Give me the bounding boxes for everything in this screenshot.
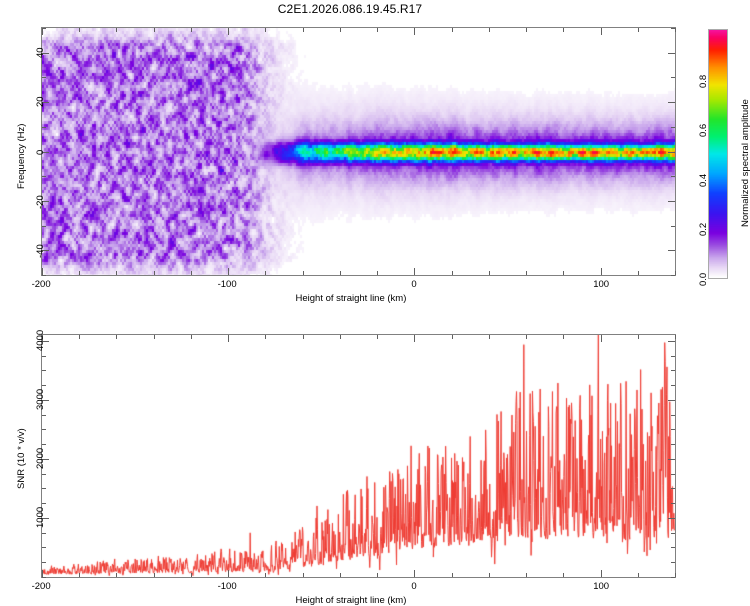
axis-tick [414,268,415,275]
axis-tick-label: 3000 [35,389,46,410]
axis-tick [601,570,602,577]
axis-tick [42,488,46,489]
axis-tick [489,28,490,32]
axis-tick [563,573,564,577]
axis-tick-label: 100 [593,581,609,592]
axis-tick [452,28,453,32]
axis-tick [228,268,229,275]
axis-tick [671,488,675,489]
axis-tick [668,518,675,519]
axis-tick [377,335,378,339]
axis-tick [675,573,676,577]
axis-tick [671,415,675,416]
axis-tick [671,385,675,386]
axis-tick-label: 100 [593,279,609,290]
axis-tick-label: 0 [35,149,46,154]
axis-tick [303,28,304,32]
colorbar-tick-label: 0.2 [698,223,709,236]
axis-tick [340,335,341,339]
axis-tick [116,271,117,275]
axis-tick-label: -200 [32,279,51,290]
axis-tick [42,226,46,227]
axis-tick [526,28,527,32]
axis-tick [526,335,527,339]
axis-tick [79,271,80,275]
axis-tick [671,77,675,78]
axis-tick [42,28,46,29]
axis-tick [414,28,415,35]
spectrogram-plot-area [41,27,676,276]
axis-tick [303,573,304,577]
axis-tick [452,271,453,275]
axis-tick [42,503,46,504]
axis-tick [452,573,453,577]
axis-tick [671,503,675,504]
axis-tick [668,102,675,103]
axis-tick [42,28,43,35]
axis-tick [671,176,675,177]
axis-tick [42,444,46,445]
axis-tick [79,335,80,339]
axis-tick [42,275,46,276]
axis-tick [563,28,564,32]
axis-tick [191,271,192,275]
axis-tick [675,335,676,339]
axis-tick [668,341,675,342]
axis-tick-label: -40 [35,244,46,258]
axis-tick-label: 2000 [35,448,46,469]
axis-tick [340,573,341,577]
axis-tick [668,459,675,460]
axis-tick [42,547,46,548]
axis-tick [526,573,527,577]
figure-title: C2E1.2026.086.19.45.R17 [0,2,700,16]
axis-tick [42,176,46,177]
axis-tick-label: 40 [35,48,46,59]
axis-tick [228,335,229,342]
axis-tick [191,573,192,577]
axis-tick-label: 0 [411,581,416,592]
axis-tick-label: -100 [218,581,237,592]
axis-tick [668,201,675,202]
axis-tick [42,370,46,371]
axis-tick [671,370,675,371]
axis-tick [638,335,639,339]
axis-tick [526,271,527,275]
axis-tick [638,28,639,32]
axis-tick [79,28,80,32]
axis-tick-label: -20 [35,195,46,209]
axis-tick [671,577,675,578]
axis-tick [671,547,675,548]
axis-tick [42,533,46,534]
axis-tick-label: 4000 [35,330,46,351]
axis-tick [265,271,266,275]
axis-tick [601,28,602,35]
axis-tick [340,271,341,275]
axis-tick [116,335,117,339]
axis-tick [42,474,46,475]
axis-tick [42,562,46,563]
axis-tick [303,335,304,339]
axis-tick [265,335,266,339]
axis-tick [116,28,117,32]
axis-tick [671,226,675,227]
axis-tick [303,271,304,275]
axis-tick [377,573,378,577]
axis-tick [265,573,266,577]
axis-tick [42,356,46,357]
figure-root: C2E1.2026.086.19.45.R17 -200-1000100-40-… [0,0,750,600]
spectrogram-image [42,28,675,275]
axis-tick [154,335,155,339]
axis-tick [668,250,675,251]
axis-tick [601,335,602,342]
axis-tick-label: -100 [218,279,237,290]
axis-tick [228,28,229,35]
axis-tick [675,271,676,275]
axis-tick [42,570,43,577]
snr-trace-line [42,335,675,577]
spectrogram-y-axis-label: Frequency (Hz) [16,123,27,188]
colorbar-title: Normalized spectral amplitude [740,99,750,227]
axis-tick [671,444,675,445]
axis-tick [668,152,675,153]
axis-tick [42,415,46,416]
colorbar-gradient [708,29,728,279]
colorbar-image [709,30,727,278]
axis-tick [42,77,46,78]
axis-tick [668,400,675,401]
axis-tick [191,28,192,32]
axis-tick [671,356,675,357]
axis-tick [42,268,43,275]
axis-tick [671,429,675,430]
axis-tick [377,271,378,275]
axis-tick [42,127,46,128]
axis-tick [671,562,675,563]
colorbar-tick-label: 0.0 [698,273,709,286]
snr-x-axis-label: Height of straight line (km) [296,595,407,606]
axis-tick [489,335,490,339]
axis-tick [154,271,155,275]
axis-tick [154,28,155,32]
axis-tick [265,28,266,32]
axis-tick [671,533,675,534]
axis-tick [414,335,415,342]
axis-tick-label: 1000 [35,507,46,528]
axis-tick-label: 20 [35,97,46,108]
axis-tick [116,573,117,577]
axis-tick [671,127,675,128]
colorbar-tick-label: 0.4 [698,174,709,187]
axis-tick [563,271,564,275]
axis-tick [228,570,229,577]
axis-tick [668,53,675,54]
axis-tick [340,28,341,32]
axis-tick [489,573,490,577]
axis-tick [154,573,155,577]
axis-tick [414,570,415,577]
axis-tick [601,268,602,275]
axis-tick [638,271,639,275]
axis-tick [191,335,192,339]
snr-y-axis-label: SNR (10 * v/v) [16,428,27,489]
axis-tick [42,577,46,578]
axis-tick [671,474,675,475]
colorbar-tick-label: 0.6 [698,124,709,137]
snr-plot-area [41,334,676,578]
spectrogram-x-axis-label: Height of straight line (km) [296,293,407,304]
axis-tick [377,28,378,32]
axis-tick [489,271,490,275]
axis-tick [452,335,453,339]
axis-tick [563,335,564,339]
axis-tick [638,573,639,577]
axis-tick-label: -200 [32,581,51,592]
colorbar-tick-label: 0.8 [698,75,709,88]
axis-tick-label: 0 [411,279,416,290]
axis-tick [79,573,80,577]
axis-tick [671,275,675,276]
axis-tick [675,28,676,32]
axis-tick [42,385,46,386]
axis-tick [671,28,675,29]
axis-tick [42,429,46,430]
